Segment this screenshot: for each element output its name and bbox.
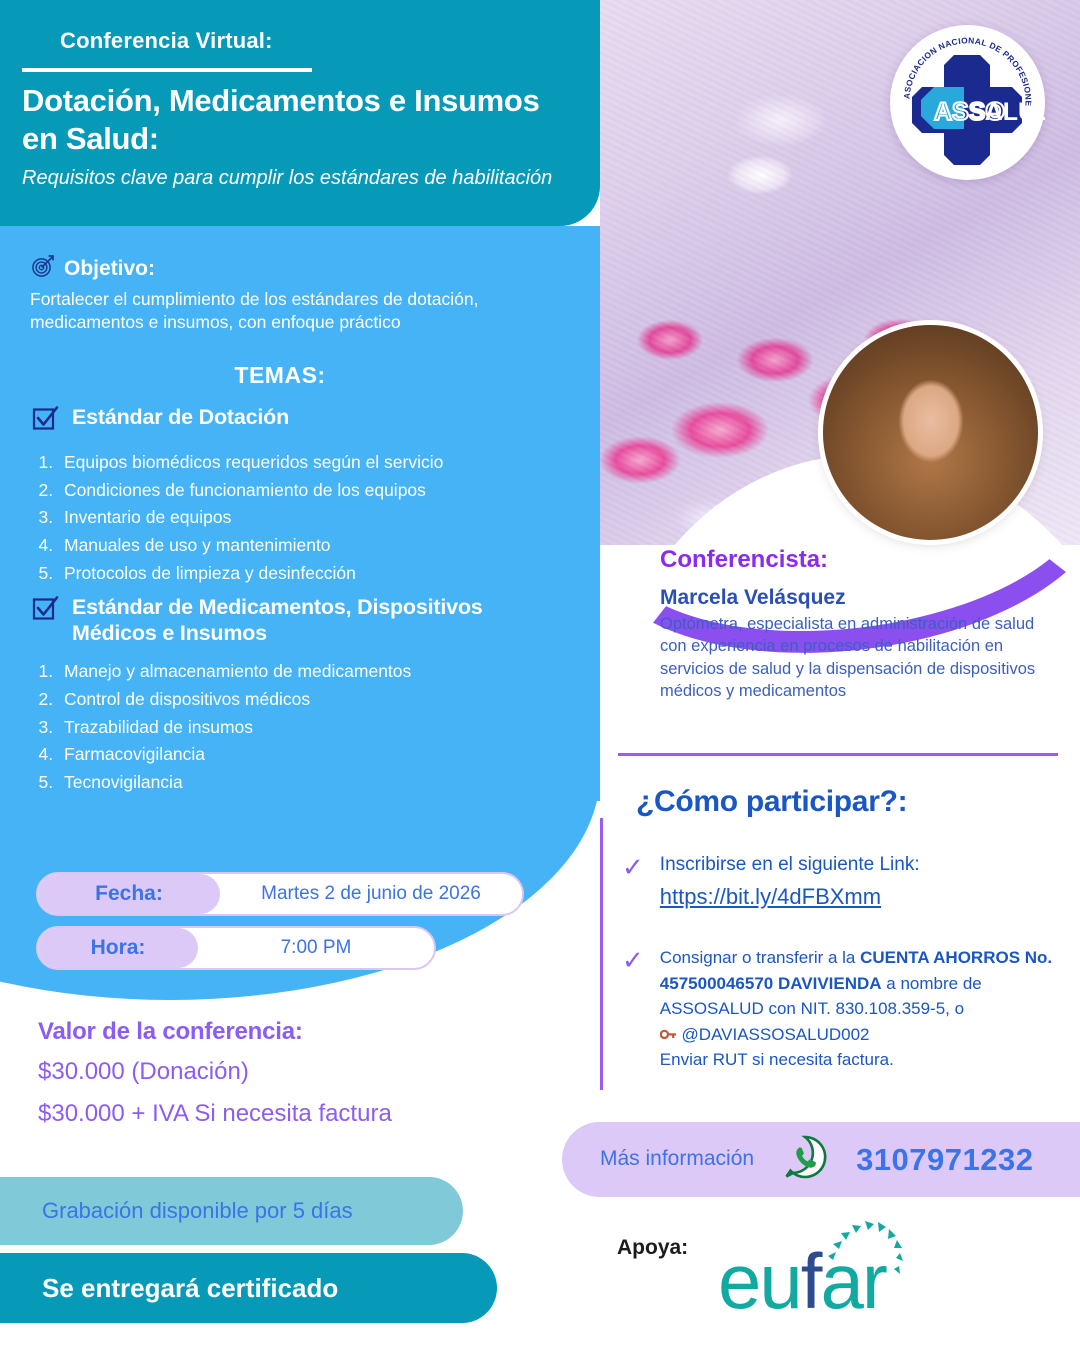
standard-block-dotacion: Estándar de Dotación Equipos biomédicos … [32, 404, 572, 587]
payment-suffix: Enviar RUT si necesita factura. [660, 1050, 894, 1069]
contact-banner: Más información 3107971232 [562, 1122, 1080, 1197]
eufar-arc-dots-icon [818, 1208, 938, 1293]
page-subtitle: Requisitos clave para cumplir los estánd… [22, 165, 567, 191]
speaker-avatar [823, 325, 1038, 540]
header-card: Conferencia Virtual: Dotación, Medicamen… [0, 0, 600, 226]
standard-title: Estándar de Dotación [72, 404, 289, 430]
list-item: Manejo y almacenamiento de medicamentos [58, 658, 572, 686]
contact-phone-number[interactable]: 3107971232 [856, 1142, 1033, 1178]
payment-handle: @DAVIASSOSALUD002 [682, 1025, 870, 1044]
list-item: Manuales de uso y mantenimiento [58, 532, 572, 560]
checkbox-checked-icon [32, 404, 60, 437]
target-icon [30, 253, 56, 284]
recording-banner: Grabación disponible por 5 días [0, 1177, 463, 1245]
eufar-text-eu: eu [718, 1237, 801, 1325]
time-label: Hora: [38, 928, 198, 968]
time-row: Hora: 7:00 PM [36, 926, 436, 970]
check-icon: ✓ [622, 852, 644, 910]
standard-item-list: Equipos biomédicos requeridos según el s… [58, 449, 572, 587]
assosalud-logo: ASOCIACION NACIONAL DE PROFESIONES DE LA… [890, 25, 1045, 180]
objective-heading: Objetivo: [30, 253, 155, 284]
participate-title: ¿Cómo participar?: [636, 785, 907, 819]
list-item: Control de dispositivos médicos [58, 686, 572, 714]
list-item: Tecnovigilancia [58, 769, 572, 797]
checkbox-checked-icon [32, 594, 60, 627]
participate-step-1: ✓ Inscribirse en el siguiente Link: http… [622, 852, 1052, 910]
sponsor-label: Apoya: [617, 1236, 688, 1260]
key-icon [660, 1025, 682, 1044]
time-value: 7:00 PM [198, 937, 434, 959]
header-rule [22, 68, 312, 72]
standard-block-medicamentos: Estándar de Medicamentos, Dispositivos M… [32, 594, 572, 797]
list-item: Farmacovigilancia [58, 741, 572, 769]
date-value: Martes 2 de junio de 2026 [220, 883, 522, 905]
date-label: Fecha: [38, 874, 220, 914]
participate-step-2: ✓ Consignar o transferir a la CUENTA AHO… [622, 945, 1062, 1073]
speaker-bio: Optómetra, especialista en administració… [660, 613, 1040, 703]
check-icon: ✓ [622, 945, 644, 1073]
list-item: Inventario de equipos [58, 504, 572, 532]
certificate-banner: Se entregará certificado [0, 1253, 497, 1323]
whatsapp-icon[interactable] [782, 1134, 828, 1185]
standard-item-list: Manejo y almacenamiento de medicamentos … [58, 658, 572, 796]
section-divider [618, 753, 1058, 756]
temas-heading: TEMAS: [0, 362, 560, 389]
list-item: Protocolos de limpieza y desinfección [58, 560, 572, 588]
eufar-logo: eufar [718, 1210, 938, 1330]
objective-text: Fortalecer el cumplimiento de los estánd… [30, 288, 582, 335]
speaker-name: Marcela Velásquez [660, 586, 846, 610]
date-row: Fecha: Martes 2 de junio de 2026 [36, 872, 524, 916]
price-title: Valor de la conferencia: [38, 1018, 303, 1046]
price-line-invoice: $30.000 + IVA Si necesita factura [38, 1100, 392, 1128]
list-item: Trazabilidad de insumos [58, 714, 572, 742]
price-line-donation: $30.000 (Donación) [38, 1058, 249, 1086]
list-item: Equipos biomédicos requeridos según el s… [58, 449, 572, 477]
participate-step-1-text: Inscribirse en el siguiente Link: [660, 852, 920, 878]
header-kicker: Conferencia Virtual: [60, 28, 273, 54]
list-item: Condiciones de funcionamiento de los equ… [58, 477, 572, 505]
objective-label: Objetivo: [64, 257, 155, 281]
contact-label: Más información [600, 1147, 754, 1172]
page-title: Dotación, Medicamentos e Insumos en Salu… [22, 82, 582, 158]
registration-link[interactable]: https://bit.ly/4dFBXmm [660, 884, 881, 910]
standard-title: Estándar de Medicamentos, Dispositivos M… [72, 594, 542, 646]
assosalud-word-salud: SALUD [968, 98, 1045, 126]
payment-prefix: Consignar o transferir a la [660, 948, 860, 967]
participate-rail [600, 818, 603, 1090]
speaker-label: Conferencista: [660, 546, 828, 574]
